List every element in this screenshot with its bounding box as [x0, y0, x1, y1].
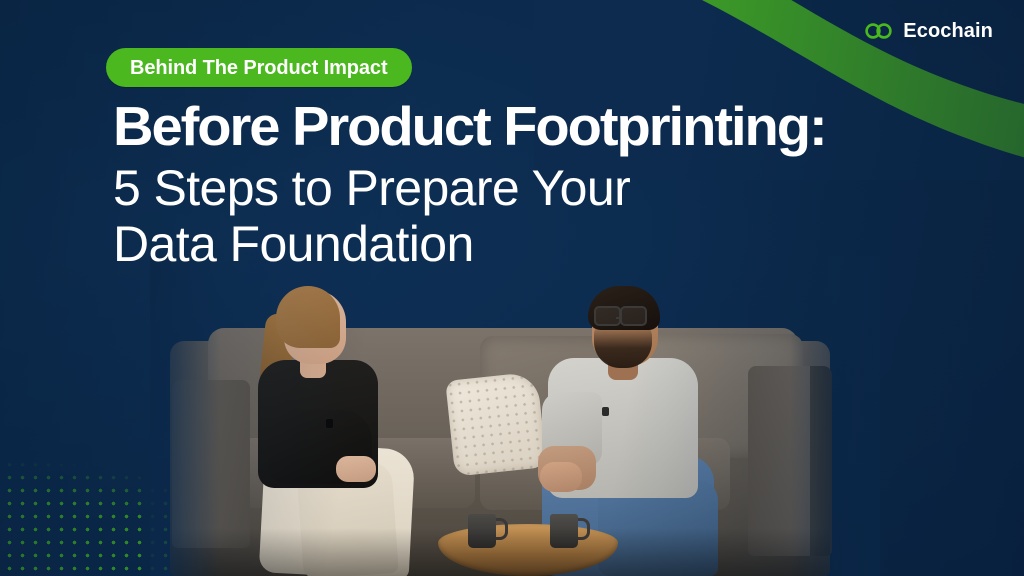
infinity-chain-icon: [864, 22, 894, 40]
brand-logo[interactable]: Ecochain: [864, 21, 993, 41]
brand-name: Ecochain: [903, 21, 993, 41]
subheadline: 5 Steps to Prepare Your Data Foundation: [113, 160, 993, 272]
title-block: Before Product Footprinting: 5 Steps to …: [113, 98, 993, 272]
series-badge-label: Behind The Product Impact: [130, 58, 388, 78]
subheadline-line-1: 5 Steps to Prepare Your: [113, 160, 993, 216]
headline: Before Product Footprinting:: [113, 98, 1011, 154]
subheadline-line-2: Data Foundation: [113, 216, 993, 272]
thumbnail-canvas: Ecochain Behind The Product Impact Befor…: [0, 0, 1024, 576]
series-badge[interactable]: Behind The Product Impact: [106, 48, 412, 87]
